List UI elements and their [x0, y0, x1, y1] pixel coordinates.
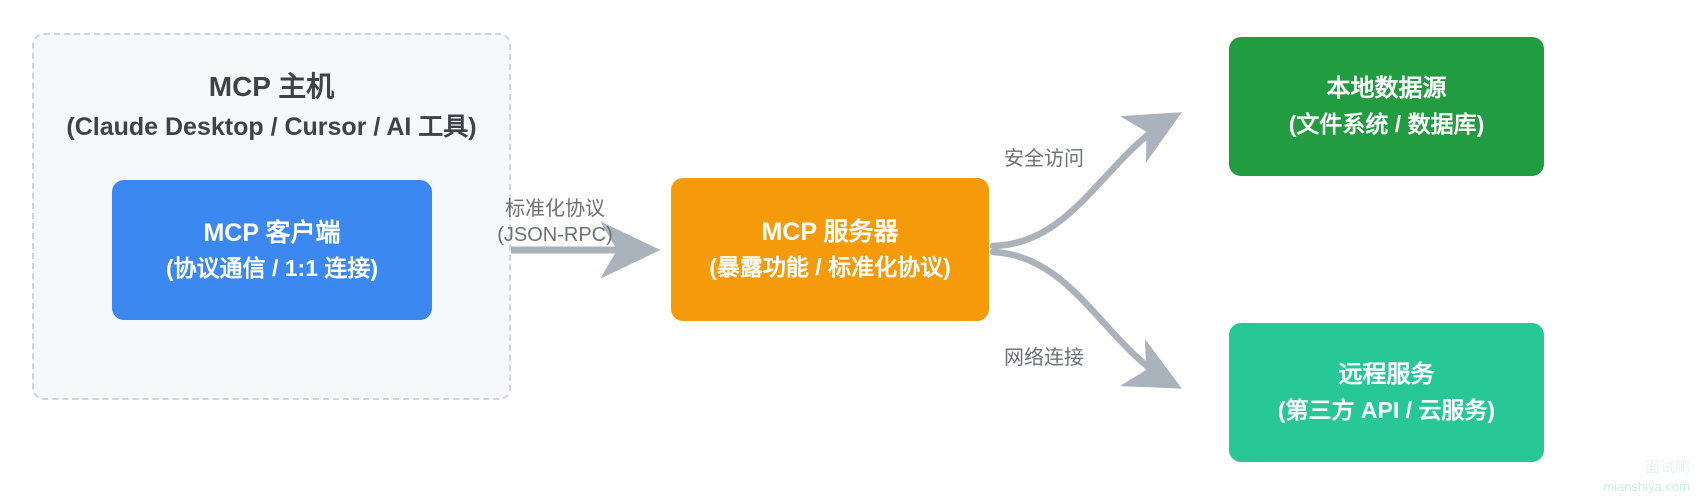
- node-local-data-source-title: 本地数据源: [1327, 74, 1447, 105]
- watermark-name: 面试鸭: [1603, 458, 1690, 478]
- edge-label-protocol-line2: (JSON-RPC): [489, 222, 621, 248]
- edge-label-network-connection: 网络连接: [1004, 345, 1084, 371]
- node-local-data-source-subtitle: (文件系统 / 数据库): [1289, 110, 1485, 139]
- node-remote-service-subtitle: (第三方 API / 云服务): [1278, 396, 1495, 425]
- node-mcp-host-title: MCP 主机: [209, 69, 335, 105]
- edge-label-secure-access: 安全访问: [1004, 146, 1084, 172]
- edge-secure-access-curve: [993, 116, 1175, 246]
- node-remote-service-title: 远程服务: [1339, 360, 1435, 391]
- edge-label-protocol-line1: 标准化协议: [505, 198, 605, 220]
- edge-label-protocol: 标准化协议 (JSON-RPC): [489, 196, 621, 248]
- node-remote-service[interactable]: 远程服务 (第三方 API / 云服务): [1229, 323, 1544, 462]
- node-local-data-source[interactable]: 本地数据源 (文件系统 / 数据库): [1229, 37, 1544, 176]
- mcp-architecture-diagram: MCP 主机 (Claude Desktop / Cursor / AI 工具)…: [0, 0, 1704, 504]
- node-mcp-client-subtitle: (协议通信 / 1:1 连接): [166, 254, 378, 283]
- node-mcp-server[interactable]: MCP 服务器 (暴露功能 / 标准化协议): [671, 178, 989, 321]
- node-mcp-server-title: MCP 服务器: [761, 216, 898, 248]
- node-mcp-server-subtitle: (暴露功能 / 标准化协议): [709, 253, 951, 282]
- node-mcp-client[interactable]: MCP 客户端 (协议通信 / 1:1 连接): [112, 180, 432, 320]
- watermark: 面试鸭 mianshiya.com: [1603, 458, 1690, 496]
- watermark-url: mianshiya.com: [1603, 478, 1690, 496]
- node-mcp-client-title: MCP 客户端: [203, 217, 340, 249]
- node-mcp-host-subtitle: (Claude Desktop / Cursor / AI 工具): [66, 111, 476, 143]
